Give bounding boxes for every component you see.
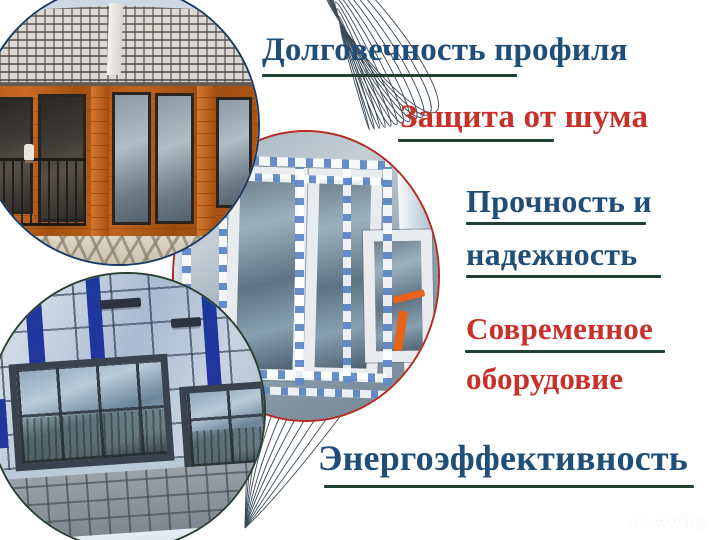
headline-strength-2: надежность	[466, 236, 637, 273]
veka-film-band	[295, 167, 304, 386]
house-wall-lamp	[24, 144, 34, 160]
house-corner-post	[197, 86, 215, 242]
photo-house	[0, 0, 260, 266]
window-reflection	[189, 426, 265, 466]
veka-film-band	[383, 167, 392, 386]
headline-rule	[466, 222, 646, 225]
headline-energy: Энергоэффективность	[318, 437, 688, 479]
window-reflection	[19, 409, 167, 464]
house-window	[216, 97, 252, 208]
headline-strength-1: Прочность и	[466, 183, 652, 220]
avito-watermark-text: Avito	[654, 511, 706, 532]
headline-rule	[465, 350, 665, 353]
house-roof	[0, 5, 260, 88]
facade-storefront-window	[8, 354, 174, 472]
advert-banner: Долговечность профиля Защита от шума Про…	[0, 0, 720, 540]
facade-storefront-window	[179, 381, 266, 475]
house-balcony-railing	[0, 158, 86, 225]
veka-film-band	[343, 169, 351, 382]
house-window	[112, 92, 151, 225]
headline-rule	[324, 485, 694, 488]
headline-durability: Долговечность профиля	[262, 32, 628, 69]
headline-equipment-1: Современное	[466, 311, 653, 347]
house-stone-base	[0, 236, 260, 266]
photo-facade	[0, 272, 266, 540]
facade-vent-grille	[171, 317, 202, 328]
house-window	[155, 93, 194, 224]
headline-rule	[262, 74, 517, 77]
headline-rule	[398, 139, 554, 142]
headline-rule	[466, 275, 661, 278]
headline-equipment-2: оборудовие	[466, 361, 623, 397]
house-corner-post	[91, 86, 109, 242]
avito-dots-icon	[630, 513, 650, 531]
house-roof-ridge	[107, 3, 123, 75]
avito-watermark: Avito	[630, 511, 706, 532]
headline-noise: Защита от шума	[400, 99, 648, 136]
